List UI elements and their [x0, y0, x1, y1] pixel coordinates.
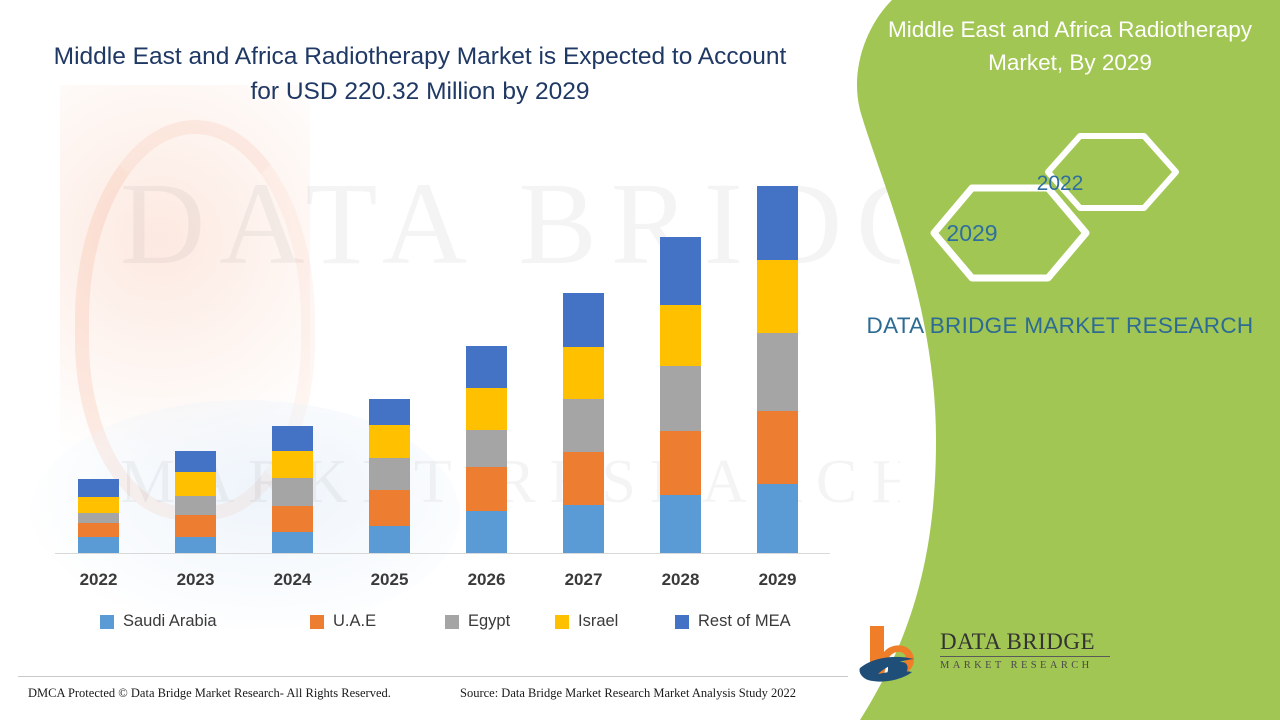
bar-segment [175, 537, 216, 553]
legend-swatch-icon [100, 615, 114, 629]
legend-item-u-a-e[interactable]: U.A.E [310, 612, 376, 631]
bar-segment [563, 505, 604, 554]
bar-segment [660, 305, 701, 366]
source-note: Source: Data Bridge Market Research Mark… [460, 686, 796, 701]
footer-divider [18, 676, 848, 677]
bar-segment [757, 260, 798, 333]
bar-segment [660, 495, 701, 553]
x-axis-label-2024: 2024 [253, 570, 333, 590]
x-axis-label-2023: 2023 [156, 570, 236, 590]
bar-segment [466, 388, 507, 431]
legend-item-israel[interactable]: Israel [555, 612, 618, 631]
bar-segment [175, 515, 216, 537]
legend-swatch-icon [555, 615, 569, 629]
legend-label: Israel [578, 612, 618, 631]
bar-segment [272, 478, 313, 506]
bar-segment [563, 452, 604, 504]
bar-segment [78, 479, 119, 497]
bar-segment [660, 431, 701, 494]
page-title: Middle East and Africa Radiotherapy Mark… [40, 40, 800, 110]
bar-segment [175, 496, 216, 516]
bar-segment [466, 467, 507, 512]
bar-segment [78, 523, 119, 537]
legend-swatch-icon [310, 615, 324, 629]
bar-segment [369, 425, 410, 458]
brand-name-text: DATA BRIDGE MARKET RESEARCH [860, 310, 1260, 343]
bar-segment [563, 399, 604, 452]
bar-segment [369, 399, 410, 426]
legend-item-rest-of-mea[interactable]: Rest of MEA [675, 612, 791, 631]
plot-area [55, 170, 830, 554]
bar-segment [563, 293, 604, 347]
hexagon-label-2029: 2029 [922, 220, 1022, 247]
legend-label: Saudi Arabia [123, 612, 217, 631]
legend-item-egypt[interactable]: Egypt [445, 612, 510, 631]
legend-label: Rest of MEA [698, 612, 791, 631]
bar-segment [272, 506, 313, 533]
x-axis-line [55, 553, 830, 554]
bar-segment [466, 511, 507, 553]
bar-segment [78, 497, 119, 513]
bar-group-2029 [757, 186, 798, 553]
bar-segment [660, 237, 701, 304]
bar-segment [175, 472, 216, 496]
legend-item-saudi-arabia[interactable]: Saudi Arabia [100, 612, 217, 631]
logo-subtitle: MARKET RESEARCH [940, 660, 1110, 671]
bar-segment [78, 537, 119, 553]
bar-segment [757, 333, 798, 410]
bar-group-2022 [78, 479, 119, 553]
bar-group-2028 [660, 237, 701, 553]
bar-segment [78, 513, 119, 524]
bar-group-2023 [175, 451, 216, 553]
brand-panel: Middle East and Africa Radiotherapy Mark… [840, 0, 1280, 720]
chart-legend: Saudi ArabiaU.A.EEgyptIsraelRest of MEA [55, 612, 845, 638]
x-axis-label-2027: 2027 [544, 570, 624, 590]
bar-segment [466, 346, 507, 388]
bar-segment [757, 484, 798, 553]
x-axis-label-2026: 2026 [447, 570, 527, 590]
logo-mark-icon [858, 622, 934, 688]
bar-segment [272, 426, 313, 451]
legend-swatch-icon [445, 615, 459, 629]
bar-group-2024 [272, 426, 313, 553]
bar-segment [563, 347, 604, 398]
x-axis-labels: 20222023202420252026202720282029 [55, 570, 830, 598]
bar-segment [272, 451, 313, 478]
x-axis-label-2029: 2029 [738, 570, 818, 590]
bar-segment [757, 411, 798, 484]
x-axis-label-2022: 2022 [59, 570, 139, 590]
bar-segment [369, 526, 410, 553]
logo-wordmark: DATA BRIDGE MARKET RESEARCH [940, 630, 1110, 671]
legend-swatch-icon [675, 615, 689, 629]
bar-segment [175, 451, 216, 472]
bar-segment [369, 458, 410, 490]
x-axis-label-2028: 2028 [641, 570, 721, 590]
bar-segment [369, 490, 410, 527]
legend-label: U.A.E [333, 612, 376, 631]
stacked-bar-chart [55, 170, 830, 560]
x-axis-label-2025: 2025 [350, 570, 430, 590]
bar-group-2025 [369, 399, 410, 553]
brand-panel-title: Middle East and Africa Radiotherapy Mark… [870, 14, 1270, 79]
hexagon-label-2022: 2022 [1015, 172, 1105, 196]
hexagon-pair [920, 130, 1250, 295]
dmca-notice: DMCA Protected © Data Bridge Market Rese… [28, 686, 391, 701]
bar-segment [660, 366, 701, 431]
company-logo: DATA BRIDGE MARKET RESEARCH [858, 622, 1108, 688]
chart-panel: DATA BRIDGE MARKET RESEARCH Middle East … [0, 0, 900, 720]
bar-group-2027 [563, 293, 604, 553]
bar-segment [272, 532, 313, 553]
bar-segment [757, 186, 798, 260]
bar-group-2026 [466, 346, 507, 553]
legend-label: Egypt [468, 612, 510, 631]
logo-title: DATA BRIDGE [940, 630, 1110, 657]
bar-segment [466, 430, 507, 467]
